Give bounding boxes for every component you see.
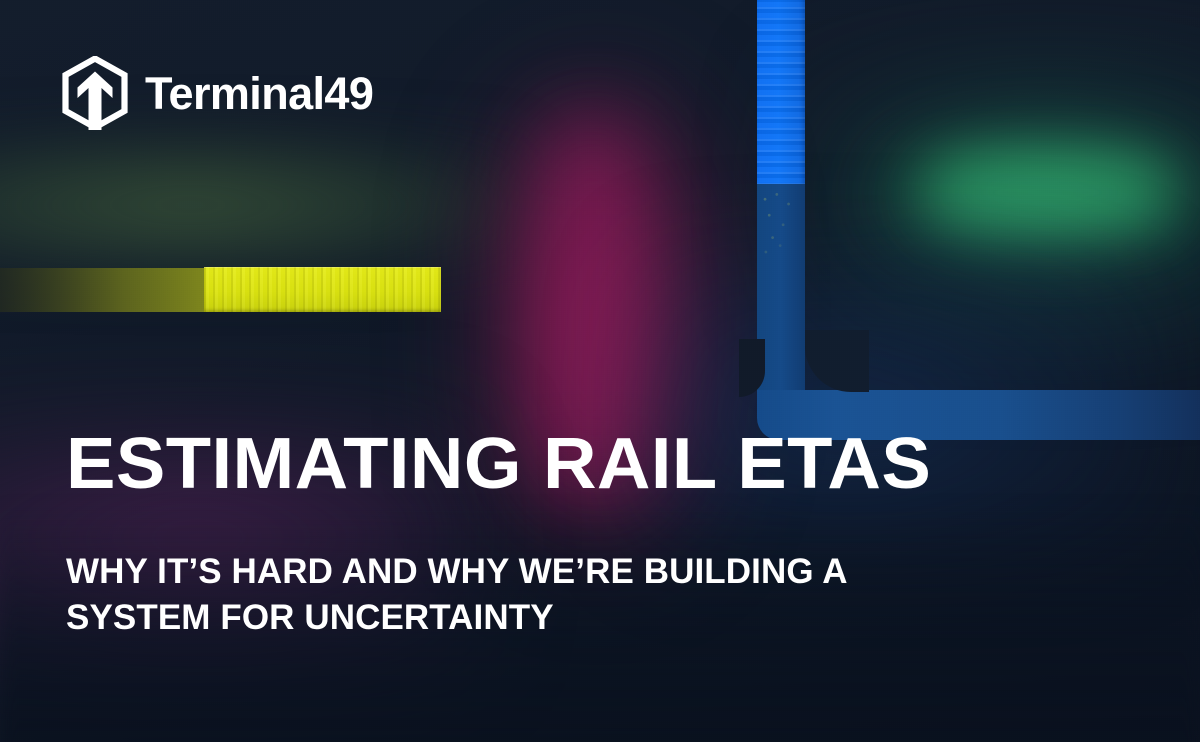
terminal49-hexagon-arrow-logo-icon [62,56,128,130]
page-subtitle: WHY IT’S HARD AND WHY WE’RE BUILDING A S… [66,549,1076,641]
page-title: ESTIMATING RAIL ETAS [66,428,931,500]
brand-lockup: Terminal49 [62,56,373,130]
brand-name: Terminal49 [145,71,373,116]
page-subtitle-line-1: WHY IT’S HARD AND WHY WE’RE BUILDING A [66,549,1076,595]
hero-content: Terminal49 ESTIMATING RAIL ETAS WHY IT’S… [0,0,1200,742]
hero-banner: Terminal49 ESTIMATING RAIL ETAS WHY IT’S… [0,0,1200,742]
page-subtitle-line-2: SYSTEM FOR UNCERTAINTY [66,595,1076,641]
